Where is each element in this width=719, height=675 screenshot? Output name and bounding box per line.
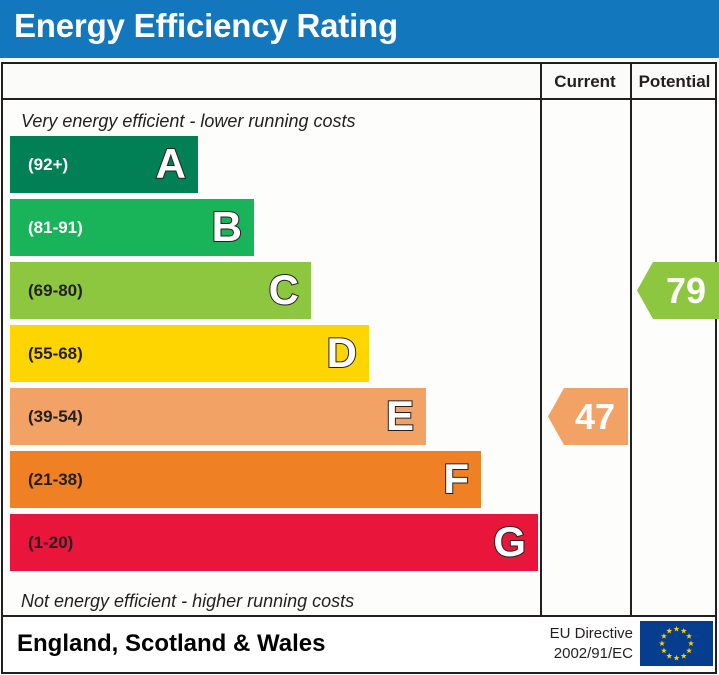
band-letter: D (327, 332, 357, 374)
rating-table: Current Potential Very energy efficient … (1, 62, 717, 617)
column-divider-potential (630, 64, 632, 615)
rating-band-g: (1-20)G (10, 514, 538, 571)
eu-flag-icon (640, 621, 713, 666)
footer: England, Scotland & Wales EU Directive 2… (1, 617, 717, 674)
rating-bands: (92+)A(81-91)B(69-80)C(55-68)D(39-54)E(2… (3, 136, 540, 586)
band-letter: F (443, 458, 469, 500)
caption-top: Very energy efficient - lower running co… (21, 111, 356, 132)
column-header-potential: Potential (630, 72, 719, 92)
band-letter: C (269, 269, 299, 311)
eu-directive-text: EU Directive 2002/91/EC (515, 624, 633, 664)
band-range-label: (39-54) (28, 407, 83, 427)
band-range-label: (21-38) (28, 470, 83, 490)
caption-bottom: Not energy efficient - higher running co… (21, 591, 354, 612)
eu-directive-line1: EU Directive (515, 624, 633, 644)
current-rating-value: 47 (561, 399, 615, 435)
band-range-label: (81-91) (28, 218, 83, 238)
band-letter: B (212, 206, 242, 248)
band-letter: E (386, 395, 414, 437)
band-range-label: (1-20) (28, 533, 73, 553)
energy-efficiency-rating-chart: Energy Efficiency Rating Current Potenti… (0, 0, 719, 675)
rating-band-b: (81-91)B (10, 199, 254, 256)
footer-region-label: England, Scotland & Wales (17, 630, 325, 658)
current-rating-badge: 47 (548, 388, 628, 445)
rating-band-c: (69-80)C (10, 262, 311, 319)
rating-band-f: (21-38)F (10, 451, 481, 508)
rating-band-e: (39-54)E (10, 388, 426, 445)
band-range-label: (55-68) (28, 344, 83, 364)
potential-rating-badge: 79 (637, 262, 719, 319)
band-range-label: (69-80) (28, 281, 83, 301)
rating-band-d: (55-68)D (10, 325, 369, 382)
title-bar: Energy Efficiency Rating (0, 0, 719, 58)
band-letter: A (156, 143, 186, 185)
column-header-current: Current (540, 72, 630, 92)
page-title: Energy Efficiency Rating (14, 7, 398, 45)
potential-rating-value: 79 (652, 273, 706, 309)
band-range-label: (92+) (28, 155, 68, 175)
column-divider-current (540, 64, 542, 615)
rating-band-a: (92+)A (10, 136, 198, 193)
band-letter: G (493, 521, 526, 563)
eu-directive-line2: 2002/91/EC (515, 644, 633, 664)
